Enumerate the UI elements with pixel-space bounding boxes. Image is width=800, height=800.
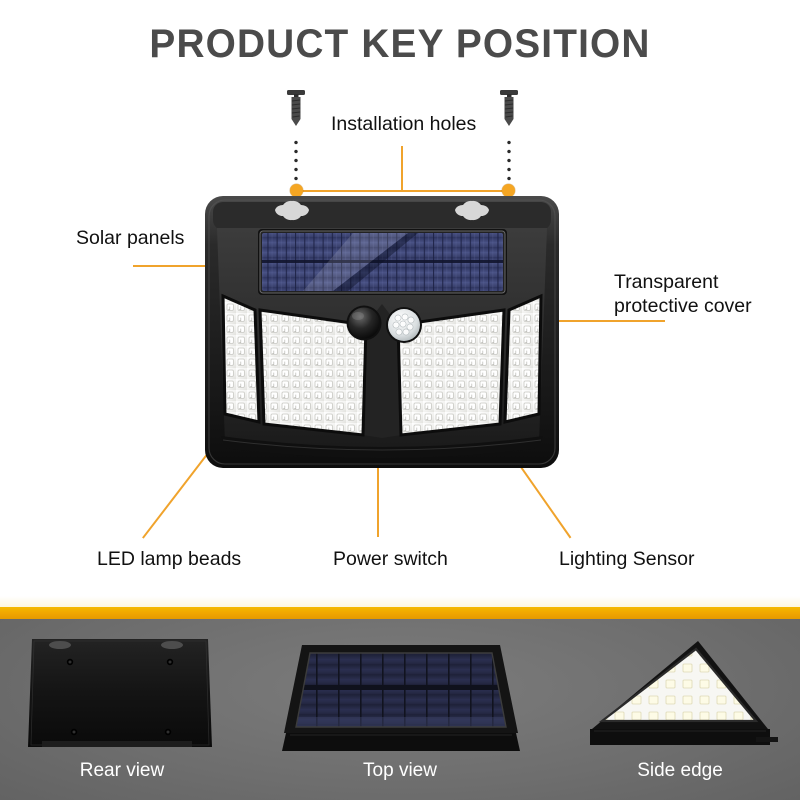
infographic-page: PRODUCT KEY POSITION Installation holes … [0, 0, 800, 800]
bottom-views-panel: Rear view [0, 619, 800, 800]
figure-rear-view [12, 629, 232, 759]
callout-led-lamp-beads: LED lamp beads [97, 547, 241, 571]
figure-side-edge [578, 629, 788, 759]
product-front-view [203, 192, 561, 480]
pir-sensor-dome [386, 307, 422, 343]
callout-installation-holes: Installation holes [331, 112, 476, 136]
leader-transparent-cover [545, 320, 665, 322]
divider-bar [0, 607, 800, 619]
caption-side-edge: Side edge [570, 760, 790, 782]
solar-panel [262, 233, 503, 291]
page-title: PRODUCT KEY POSITION [12, 22, 788, 67]
power-switch-dome [347, 306, 382, 341]
divider-glow [0, 596, 800, 607]
screw-icon-right [496, 88, 522, 136]
callout-transparent-cover: Transparent protective cover [614, 270, 752, 318]
screw-icon-left [283, 88, 309, 136]
callout-lighting-sensor: Lighting Sensor [559, 547, 695, 571]
callout-power-switch: Power switch [333, 547, 448, 571]
leader-installation-stub [401, 146, 403, 191]
caption-top-view: Top view [290, 760, 510, 782]
figure-top-view [250, 629, 550, 759]
caption-rear-view: Rear view [12, 760, 232, 782]
callout-solar-panels: Solar panels [76, 226, 184, 250]
